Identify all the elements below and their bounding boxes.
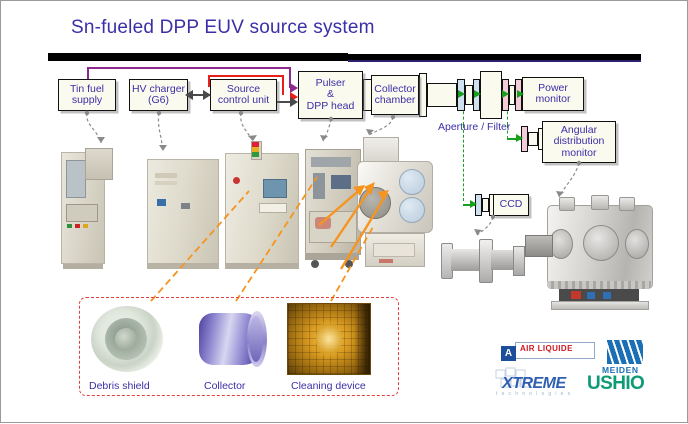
slide-canvas: Sn-fueled DPP EUV source system [0, 0, 688, 423]
meiden-mark-icon [607, 340, 643, 364]
xtreme-tagline: t e c h n o l o g i e s [496, 391, 572, 397]
detail-label-collector: Collector [204, 380, 245, 392]
detail-label-cleaning-device: Cleaning device [291, 380, 366, 392]
detail-label-debris-shield: Debris shield [89, 380, 150, 392]
air-liquide-monogram-text: A [501, 346, 516, 361]
partner-logos: A AIR LIQUIDE MEIDEN XTREME t e c h n o … [488, 339, 684, 401]
air-liquide-logo: AIR LIQUIDE [520, 344, 573, 353]
air-liquide-monogram-icon: A [501, 346, 516, 361]
ushio-logo: USHIO [587, 373, 644, 395]
